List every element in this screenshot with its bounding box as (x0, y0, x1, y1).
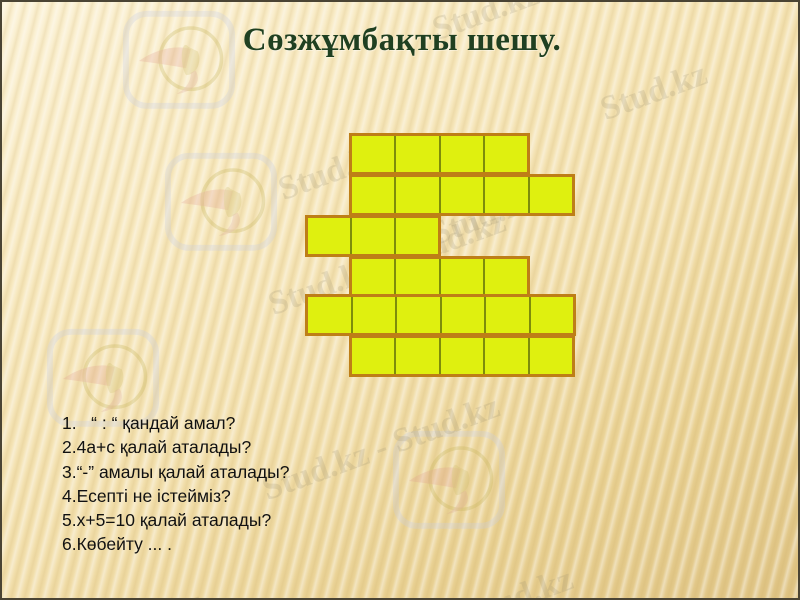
crossword-cell[interactable] (352, 177, 396, 213)
crossword-cell[interactable] (308, 218, 352, 254)
crossword-cell[interactable] (308, 297, 353, 333)
crossword-cell[interactable] (396, 177, 440, 213)
crossword-cell[interactable] (352, 338, 396, 374)
crossword-cell[interactable] (352, 259, 396, 295)
question-item-5: 5.х+5=10 қалай аталады? (62, 508, 482, 532)
crossword-cell[interactable] (396, 338, 440, 374)
question-item-4: 4.Есепті не істейміз? (62, 484, 482, 508)
crossword-cell[interactable] (396, 218, 438, 254)
crossword-row-1[interactable] (349, 133, 530, 175)
slide-canvas: Stud.kzStud.kzStud.kz - Stud.kzStud.kz -… (0, 0, 800, 600)
crossword-cell[interactable] (441, 259, 485, 295)
crossword-row-5[interactable] (305, 294, 576, 336)
crossword-cell[interactable] (441, 177, 485, 213)
watermark-text: Stud.kz (596, 55, 713, 129)
crossword-cell[interactable] (530, 177, 572, 213)
crossword-row-3[interactable] (305, 215, 441, 257)
question-item-1: 1. “ : “ қандай амал? (62, 411, 482, 435)
crossword-cell[interactable] (441, 338, 485, 374)
crossword-cell[interactable] (352, 218, 396, 254)
crossword-cell[interactable] (485, 136, 527, 172)
crossword-cell[interactable] (353, 297, 398, 333)
question-item-3: 3.“-” амалы қалай аталады? (62, 460, 482, 484)
crossword-cell[interactable] (397, 297, 442, 333)
watermark-text: Stud.kz (462, 560, 579, 600)
question-list: 1. “ : “ қандай амал?2.4а+с қалай аталад… (62, 411, 482, 557)
question-item-2: 2.4а+с қалай аталады? (62, 435, 482, 459)
crossword-cell[interactable] (485, 177, 529, 213)
hummingbird-logo-icon (162, 144, 280, 262)
crossword-cell[interactable] (441, 136, 485, 172)
crossword-cell[interactable] (530, 338, 572, 374)
crossword-cell[interactable] (485, 259, 527, 295)
crossword-cell[interactable] (531, 297, 574, 333)
crossword-cell[interactable] (485, 338, 529, 374)
watermark-text: Stud.kz (92, 583, 209, 600)
hummingbird-logo-icon (120, 2, 238, 120)
crossword-cell[interactable] (352, 136, 396, 172)
page-title: Сөзжұмбақты шешу. (2, 22, 800, 59)
question-item-6: 6.Көбейту ... . (62, 532, 482, 556)
crossword-row-6[interactable] (349, 335, 575, 377)
crossword-cell[interactable] (396, 259, 440, 295)
crossword-cell[interactable] (396, 136, 440, 172)
crossword-row-4[interactable] (349, 256, 530, 298)
crossword-cell[interactable] (486, 297, 531, 333)
crossword-cell[interactable] (442, 297, 487, 333)
crossword-row-2[interactable] (349, 174, 575, 216)
